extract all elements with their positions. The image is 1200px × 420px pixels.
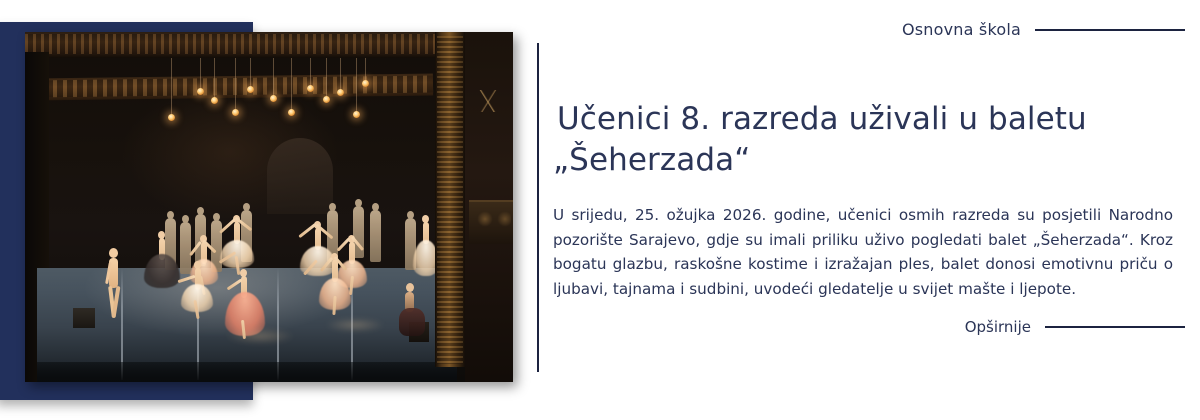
hanging-bulb-icon — [197, 88, 204, 95]
read-more-link[interactable]: Opširnije — [965, 318, 1185, 336]
hanging-bulb-icon — [337, 89, 344, 96]
dancer-right-standing — [421, 222, 430, 262]
read-more-label: Opširnije — [965, 318, 1031, 336]
hanging-bulb-icon — [353, 111, 360, 118]
stage-apron — [37, 362, 457, 382]
hanging-bulb-icon — [168, 114, 175, 121]
dancer-cream-5 — [193, 268, 202, 308]
bulb-cord — [365, 58, 366, 82]
proscenium-pillar-ornament — [437, 36, 463, 364]
article-content: Osnovna škola Učenici 8. razreda uživali… — [537, 0, 1200, 420]
bulb-cord — [340, 58, 341, 91]
standing-dancer-left — [107, 256, 121, 322]
page-title-line-2: „Šeherzada“ — [553, 140, 1153, 181]
bulb-cord — [200, 58, 201, 90]
kicker-rule — [1035, 29, 1185, 31]
page-title-line-1: Učenici 8. razreda uživali u baletu — [553, 99, 1153, 140]
ballet-performance-photo[interactable] — [25, 32, 513, 382]
hanging-bulb-icon — [232, 109, 239, 116]
chandelier-arm-icon — [472, 90, 504, 112]
bulb-cord — [326, 58, 327, 98]
seated-dancer-right — [403, 290, 419, 334]
page-title: Učenici 8. razreda uživali u baletu „Šeh… — [553, 99, 1153, 181]
dancer-cream-2 — [232, 222, 241, 262]
bulb-cord — [291, 58, 292, 111]
bulb-cord — [310, 58, 311, 87]
hanging-bulb-icon — [362, 80, 369, 87]
bulb-cord — [235, 58, 236, 111]
hanging-bulb-icon — [323, 96, 330, 103]
bulb-cord — [250, 58, 251, 88]
chorus-figure — [180, 222, 191, 274]
hanging-bulb-icon — [211, 97, 218, 104]
hanging-bulb-icon — [270, 95, 277, 102]
read-more-rule — [1045, 326, 1185, 328]
article-photo-block — [0, 0, 530, 420]
hanging-bulb-icon — [247, 86, 254, 93]
article-paragraph: U srijedu, 25. ožujka 2026. godine, učen… — [553, 203, 1173, 302]
category-kicker-label: Osnovna škola — [902, 20, 1021, 39]
hanging-bulb-icon — [307, 85, 314, 92]
dancer-dark-dress — [157, 238, 166, 278]
floor-glow — [325, 318, 385, 332]
chorus-figure — [370, 210, 381, 262]
dancer-peach-6 — [330, 260, 339, 300]
dancer-cream-3 — [313, 228, 322, 268]
bulb-cord — [273, 58, 274, 97]
dancer-peach-4 — [347, 242, 356, 282]
stage-stool-prop — [73, 308, 95, 328]
dancer-coral-front — [239, 276, 248, 316]
floor-glow — [225, 328, 295, 344]
hanging-bulb-icon — [288, 109, 295, 116]
backdrop-arch — [267, 138, 333, 214]
bulb-cord — [356, 58, 357, 113]
category-kicker[interactable]: Osnovna škola — [902, 20, 1185, 39]
theatre-box-rail-ornament — [471, 206, 511, 232]
bulb-cord — [171, 58, 172, 116]
bulb-cord — [214, 58, 215, 99]
